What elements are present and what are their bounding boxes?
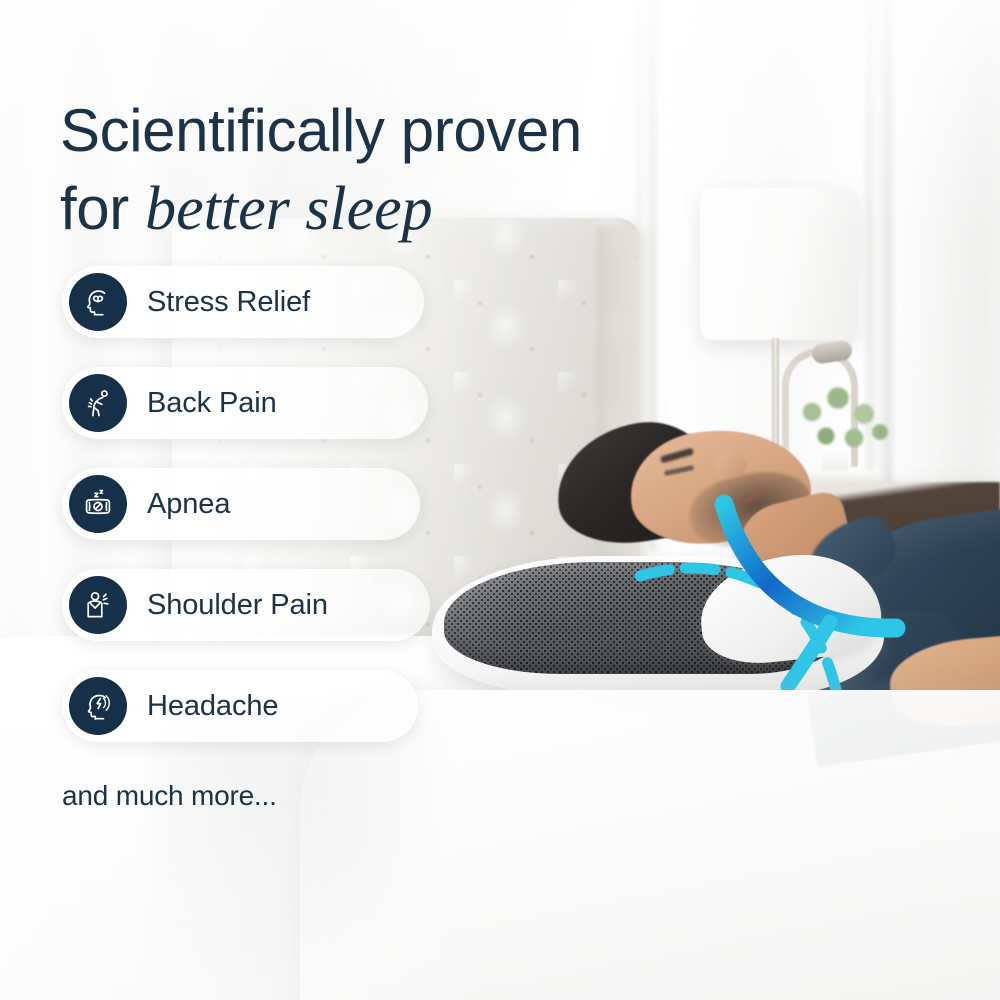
headline-emphasis: better sleep bbox=[145, 175, 433, 243]
benefit-item-apnea[interactable]: Apnea bbox=[62, 468, 420, 540]
headline-line-1: Scientifically proven bbox=[60, 97, 582, 164]
headline-line-2: for better sleep bbox=[60, 170, 582, 248]
head-lightning-icon bbox=[69, 677, 127, 735]
head-lotus-icon bbox=[69, 273, 127, 331]
benefit-label: Stress Relief bbox=[147, 286, 310, 319]
benefit-list: Stress Relief Back Pain bbox=[62, 266, 430, 742]
benefit-label: Headache bbox=[147, 690, 278, 723]
benefit-label: Back Pain bbox=[147, 387, 277, 420]
person-back-pain-icon bbox=[69, 374, 127, 432]
page-title: Scientifically proven for better sleep bbox=[60, 92, 582, 248]
headline-line-2-prefix: for bbox=[60, 175, 145, 242]
benefit-item-back-pain[interactable]: Back Pain bbox=[62, 367, 428, 439]
person-shoulder-pain-icon bbox=[69, 576, 127, 634]
pillow-no-snore-icon bbox=[69, 475, 127, 533]
benefit-item-headache[interactable]: Headache bbox=[62, 670, 418, 742]
benefit-item-stress-relief[interactable]: Stress Relief bbox=[62, 266, 424, 338]
benefit-label: Apnea bbox=[147, 488, 230, 521]
overlay-content: Scientifically proven for better sleep S… bbox=[0, 0, 1000, 1000]
benefit-item-shoulder-pain[interactable]: Shoulder Pain bbox=[62, 569, 430, 641]
benefit-label: Shoulder Pain bbox=[147, 589, 328, 622]
product-benefits-poster: Scientifically proven for better sleep S… bbox=[0, 0, 1000, 1000]
and-much-more-text: and much more... bbox=[62, 780, 277, 812]
